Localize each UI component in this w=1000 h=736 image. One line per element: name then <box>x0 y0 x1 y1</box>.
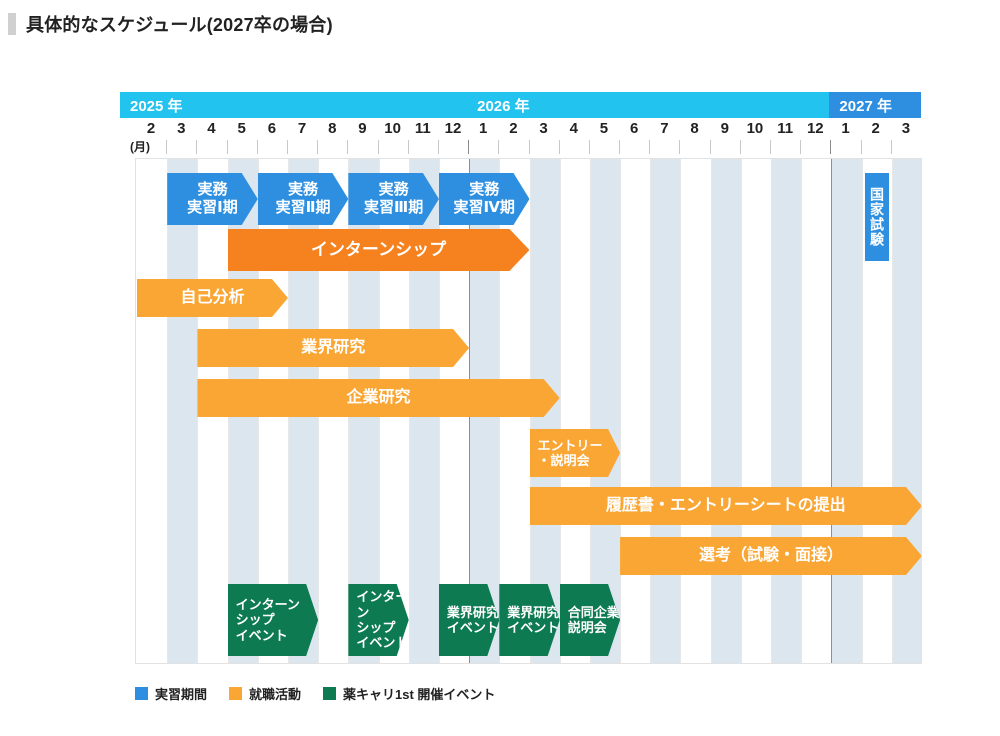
month-tick <box>227 140 228 154</box>
bar-label: 国家試験 <box>868 187 885 247</box>
month-tick <box>770 140 771 154</box>
month-tick <box>891 140 892 154</box>
month-gridline <box>771 159 772 663</box>
month-gridline <box>620 159 621 663</box>
month-tick <box>196 140 197 154</box>
month-label: 12 <box>438 120 468 138</box>
month-band <box>650 159 680 663</box>
bar-event-godo-setsumeikai[interactable]: 合同企業 説明会 <box>560 584 620 656</box>
year-separator-line <box>831 159 832 663</box>
legend-swatch-icon <box>323 687 336 700</box>
bar-event-gyokai-2[interactable]: 業界研究 イベント <box>499 584 559 656</box>
month-gridline <box>892 159 893 663</box>
legend-label: 薬キャリ1st 開催イベント <box>343 684 495 703</box>
month-tick <box>740 140 741 154</box>
bar-label: 実務 実習Ⅳ期 <box>453 181 514 216</box>
bar-label: 実務 実習Ⅱ期 <box>276 181 331 216</box>
month-band <box>167 159 197 663</box>
bar-label: 実務 実習Ⅰ期 <box>187 181 238 216</box>
month-tick <box>619 140 620 154</box>
month-label: 8 <box>317 120 347 138</box>
bar-event-internship-2[interactable]: インターン シップ イベント <box>348 584 408 656</box>
legend-swatch-icon <box>229 687 242 700</box>
bar-jitsumu-jisshu-3[interactable]: 実務 実習Ⅲ期 <box>348 173 439 225</box>
month-band <box>711 159 741 663</box>
chart-legend: 実習期間就職活動薬キャリ1st 開催イベント <box>135 684 495 703</box>
month-tick <box>317 140 318 154</box>
year-band-2025: 2025 年 <box>120 92 467 118</box>
month-label: 9 <box>347 120 377 138</box>
month-gridline <box>650 159 651 663</box>
month-band <box>892 159 922 663</box>
page-title: 具体的なスケジュール(2027卒の場合) <box>26 11 333 37</box>
timeline-plot-area: 実務 実習Ⅰ期実務 実習Ⅱ期実務 実習Ⅲ期実務 実習Ⅳ期インターンシップ自己分析… <box>135 158 922 664</box>
month-band <box>771 159 801 663</box>
bar-event-gyokai-1[interactable]: 業界研究 イベント <box>439 584 499 656</box>
month-tick <box>589 140 590 154</box>
month-tick <box>649 140 650 154</box>
month-tick <box>529 140 530 154</box>
month-tick <box>710 140 711 154</box>
month-tick <box>166 140 167 154</box>
bar-kokka-shiken[interactable]: 国家試験 <box>865 173 889 261</box>
month-tick <box>559 140 560 154</box>
month-label: 12 <box>800 120 830 138</box>
month-tick <box>408 140 409 154</box>
month-label: 2 <box>861 120 891 138</box>
month-tick <box>861 140 862 154</box>
bar-label: 業界研究 イベント <box>447 605 499 636</box>
month-label: 11 <box>770 120 800 138</box>
month-label: 3 <box>891 120 921 138</box>
month-gridline <box>711 159 712 663</box>
year-label: 2025 年 <box>130 95 183 116</box>
month-tick <box>438 140 439 154</box>
bar-label: 自己分析 <box>180 289 244 308</box>
bar-jitsumu-jisshu-1[interactable]: 実務 実習Ⅰ期 <box>167 173 258 225</box>
month-label: 7 <box>649 120 679 138</box>
year-label: 2027 年 <box>839 95 892 116</box>
month-label: 4 <box>196 120 226 138</box>
bar-label: インターン シップ イベント <box>356 589 408 650</box>
schedule-gantt-chart: 2025 年2026 年2027 年 (月) 23456789101112123… <box>120 92 932 712</box>
bar-label: 実務 実習Ⅲ期 <box>364 181 423 216</box>
month-tick <box>287 140 288 154</box>
bar-label: 合同企業 説明会 <box>568 605 620 636</box>
month-label: 1 <box>830 120 860 138</box>
bar-label: 業界研究 <box>301 339 365 358</box>
bar-jitsumu-jisshu-2[interactable]: 実務 実習Ⅱ期 <box>258 173 349 225</box>
title-accent-bar <box>8 13 16 35</box>
legend-label: 就職活動 <box>249 684 301 703</box>
legend-item: 実習期間 <box>135 684 207 703</box>
bar-internship[interactable]: インターンシップ <box>228 229 530 271</box>
month-label: 2 <box>498 120 528 138</box>
month-label: 5 <box>227 120 257 138</box>
bar-kigyo-kenkyu[interactable]: 企業研究 <box>197 379 559 417</box>
month-tick <box>800 140 801 154</box>
bar-label: 業界研究 イベント <box>507 605 559 636</box>
month-label: 11 <box>408 120 438 138</box>
month-tick <box>468 140 469 154</box>
bar-rirekisho-teishutsu[interactable]: 履歴書・エントリーシートの提出 <box>530 487 923 525</box>
month-label: 3 <box>166 120 196 138</box>
month-axis: (月) 23456789101112123456789101112123 <box>120 120 932 158</box>
month-band <box>831 159 861 663</box>
legend-item: 薬キャリ1st 開催イベント <box>323 684 495 703</box>
bar-label: 履歴書・エントリーシートの提出 <box>606 497 846 516</box>
month-label: 6 <box>619 120 649 138</box>
month-tick <box>378 140 379 154</box>
legend-swatch-icon <box>135 687 148 700</box>
month-label: 6 <box>257 120 287 138</box>
month-gridline <box>862 159 863 663</box>
year-band-2026: 2026 年 <box>467 92 830 118</box>
month-tick <box>830 140 831 154</box>
bar-label: インターン シップ イベント <box>236 597 300 643</box>
month-tick <box>347 140 348 154</box>
legend-item: 就職活動 <box>229 684 301 703</box>
bar-gyokai-kenkyu[interactable]: 業界研究 <box>197 329 469 367</box>
bar-label: 選考（試験・面接） <box>699 547 843 566</box>
month-label: 4 <box>559 120 589 138</box>
month-label: 7 <box>287 120 317 138</box>
legend-label: 実習期間 <box>155 684 207 703</box>
month-label: 2 <box>136 120 166 138</box>
month-tick <box>498 140 499 154</box>
month-gridline <box>741 159 742 663</box>
bar-jitsumu-jisshu-4[interactable]: 実務 実習Ⅳ期 <box>439 173 530 225</box>
month-label: 5 <box>589 120 619 138</box>
year-label: 2026 年 <box>477 95 530 116</box>
month-label: 10 <box>740 120 770 138</box>
month-gridline <box>680 159 681 663</box>
month-label: 8 <box>679 120 709 138</box>
month-gridline <box>801 159 802 663</box>
year-band-2027: 2027 年 <box>829 92 921 118</box>
month-tick <box>257 140 258 154</box>
month-gridline <box>167 159 168 663</box>
bar-label: 企業研究 <box>347 389 411 408</box>
bar-label: エントリー ・説明会 <box>538 438 603 469</box>
month-label: 1 <box>468 120 498 138</box>
month-tick <box>679 140 680 154</box>
month-unit-label: (月) <box>130 138 150 155</box>
month-label: 3 <box>529 120 559 138</box>
month-label: 9 <box>710 120 740 138</box>
page-header: 具体的なスケジュール(2027卒の場合) <box>0 0 1000 48</box>
bar-jiko-bunseki[interactable]: 自己分析 <box>137 279 288 317</box>
month-label: 10 <box>378 120 408 138</box>
bar-event-internship-1[interactable]: インターン シップ イベント <box>228 584 319 656</box>
bar-senko-shiken-mensetsu[interactable]: 選考（試験・面接） <box>620 537 922 575</box>
bar-label: インターンシップ <box>311 240 446 260</box>
bar-entry-setsumeikai[interactable]: エントリー ・説明会 <box>530 429 621 477</box>
